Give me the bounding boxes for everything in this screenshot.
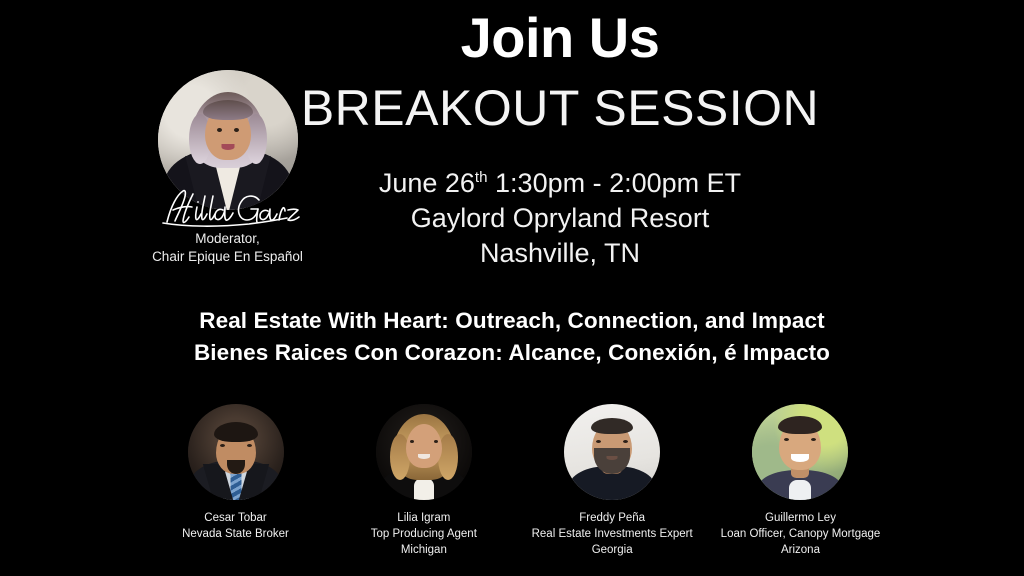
speaker-title: Loan Officer, Canopy Mortgage [713, 527, 888, 543]
portrait-eye-right [234, 128, 239, 132]
moderator-block: Moderator, Chair Epique En Español [120, 70, 335, 266]
speaker-portrait-art [376, 404, 472, 500]
speaker-name: Guillermo Ley [713, 511, 888, 527]
portrait-face [406, 424, 442, 468]
speaker-photo [752, 404, 848, 500]
speaker-card: Cesar Tobar Nevada State Broker [148, 404, 323, 543]
portrait-eye-left [217, 128, 222, 132]
portrait-hair [778, 416, 822, 434]
speaker-name: Freddy Peña [525, 511, 700, 527]
portrait-smile [791, 454, 809, 462]
event-details: June 26th 1:30pm - 2:00pm ET Gaylord Opr… [300, 166, 820, 271]
speaker-card: Lilia Igram Top Producing Agent Michigan [336, 404, 511, 559]
portrait-eye-left [410, 440, 414, 443]
event-venue: Gaylord Opryland Resort [300, 201, 820, 236]
portrait-eye-right [247, 444, 252, 447]
portrait-eye-right [434, 440, 438, 443]
speaker-photo [564, 404, 660, 500]
speaker-title: Real Estate Investments Expert [525, 527, 700, 543]
event-date: June 26 [379, 168, 475, 198]
moderator-role-line-1: Moderator, [120, 230, 335, 248]
speaker-title: Top Producing Agent [336, 527, 511, 543]
moderator-role: Moderator, Chair Epique En Español [120, 230, 335, 266]
speaker-portrait-art [752, 404, 848, 500]
speaker-location: Michigan [336, 543, 511, 559]
portrait-fringe [203, 100, 253, 120]
event-datetime-line: June 26th 1:30pm - 2:00pm ET [300, 166, 820, 201]
speaker-card: Guillermo Ley Loan Officer, Canopy Mortg… [713, 404, 888, 559]
session-title-english: Real Estate With Heart: Outreach, Connec… [92, 305, 932, 337]
page-eyebrow-heading: Join Us [300, 8, 820, 68]
speaker-title: Nevada State Broker [148, 527, 323, 543]
portrait-hair [214, 422, 258, 442]
speaker-caption: Lilia Igram Top Producing Agent Michigan [336, 511, 511, 559]
speaker-name: Cesar Tobar [148, 511, 323, 527]
session-title-block: Real Estate With Heart: Outreach, Connec… [92, 305, 932, 369]
speaker-location: Arizona [713, 543, 888, 559]
speaker-caption: Cesar Tobar Nevada State Broker [148, 511, 323, 543]
event-date-ordinal: th [475, 169, 488, 186]
portrait-hair [591, 418, 633, 434]
portrait-mouth [607, 456, 618, 460]
speaker-caption: Freddy Peña Real Estate Investments Expe… [525, 511, 700, 559]
portrait-collar [789, 480, 811, 500]
moderator-role-line-2: Chair Epique En Español [120, 248, 335, 266]
speaker-name: Lilia Igram [336, 511, 511, 527]
event-time-range: 1:30pm - 2:00pm ET [488, 168, 742, 198]
speaker-photo [188, 404, 284, 500]
speaker-caption: Guillermo Ley Loan Officer, Canopy Mortg… [713, 511, 888, 559]
session-title-spanish: Bienes Raices Con Corazon: Alcance, Cone… [92, 337, 932, 369]
portrait-eye-left [220, 444, 225, 447]
portrait-blouse [414, 478, 434, 500]
speaker-photo [376, 404, 472, 500]
speaker-location: Georgia [525, 543, 700, 559]
portrait-mouth [221, 144, 234, 150]
portrait-mouth [418, 454, 430, 459]
moderator-signature [120, 182, 335, 228]
speaker-portrait-art [188, 404, 284, 500]
slide-canvas: Join Us BREAKOUT SESSION June 26th 1:30p… [0, 0, 1024, 576]
speaker-card: Freddy Peña Real Estate Investments Expe… [525, 404, 700, 559]
page-title: BREAKOUT SESSION [250, 82, 870, 135]
speaker-portrait-art [564, 404, 660, 500]
speakers-row: Cesar Tobar Nevada State Broker [148, 404, 888, 576]
event-city-state: Nashville, TN [300, 236, 820, 271]
